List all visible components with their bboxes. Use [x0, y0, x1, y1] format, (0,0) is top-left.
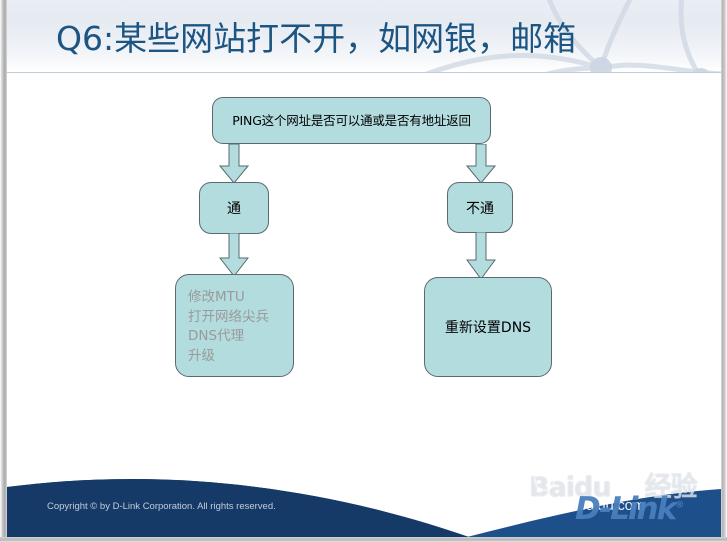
flow-node-reset-dns-label: 重新设置DNS — [445, 317, 531, 337]
flow-node-left-actions[interactable]: 修改MTU 打开网络尖兵 DNS代理 升级 — [175, 274, 294, 377]
flow-node-left-actions-label: 修改MTU 打开网络尖兵 DNS代理 升级 — [188, 288, 293, 366]
flow-node-ping-check-label: PING这个网址是否可以通或是否有地址返回 — [232, 113, 471, 129]
footer-wave-graphic — [7, 457, 721, 537]
flow-node-ping-check[interactable]: PING这个网址是否可以通或是否有地址返回 — [212, 97, 491, 144]
flow-node-unreachable[interactable]: 不通 — [447, 182, 513, 233]
slide-frame-bottom — [0, 537, 727, 542]
flow-node-unreachable-label: 不通 — [466, 198, 494, 218]
slide-footer: Copyright © by D-Link Corporation. All r… — [7, 457, 721, 537]
arrow-ping-to-reachable — [219, 144, 249, 184]
copyright-text: Copyright © by D-Link Corporation. All r… — [47, 501, 276, 512]
arrow-unreachable-to-dns — [466, 232, 496, 280]
arrow-reachable-to-actions — [219, 233, 249, 277]
flowchart: PING这个网址是否可以通或是否有地址返回 通 不通 — [0, 72, 727, 470]
slide-canvas: Q6:某些网站打不开，如网银，邮箱 PING这个网址是否可以通或是否有地址返回 … — [0, 0, 727, 542]
flow-node-reachable-label: 通 — [227, 198, 241, 218]
page-title: Q6:某些网站打不开，如网银，邮箱 — [56, 18, 576, 60]
arrow-ping-to-unreachable — [466, 144, 496, 184]
flow-node-reachable[interactable]: 通 — [199, 182, 269, 234]
slide-header: Q6:某些网站打不开，如网银，邮箱 — [7, 0, 721, 73]
flow-node-reset-dns[interactable]: 重新设置DNS — [424, 277, 552, 377]
